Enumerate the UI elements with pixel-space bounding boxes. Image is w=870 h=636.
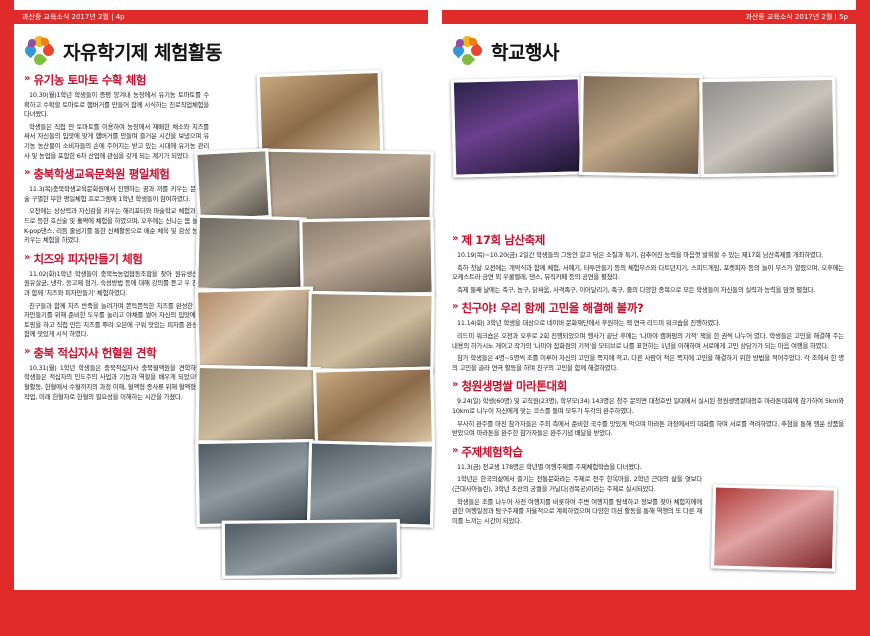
paragraph: 참가 학생들은 4명~5명씩 조를 이루어 자신의 고민을 쪽지에 적고, 다른… (452, 354, 844, 373)
chevron-right-icon: » (24, 166, 28, 179)
header-left-text: 과산중 교육소식 2017년 2월 | 4p (14, 10, 133, 24)
paragraph: 10.30(월)1학년 학생들이 증평 양겨내 농장에서 유기농 토마토를 수확… (24, 91, 209, 120)
article-heading: » 치즈와 피자만들기 체험 (24, 251, 209, 267)
article-body: 10.19(목)~10.20(금) 2일간 학생들의 그동안 갈고 닦은 소질과… (452, 251, 844, 295)
paragraph: 리드미 워크숍은 오전과 오후로 2회 진행되었으며 행사가 끝난 후에는 '나… (452, 332, 844, 351)
article-heading: » 친구야! 우리 함께 고민을 해결해 볼까? (452, 300, 844, 316)
paragraph: 1학년은 한국의삶에서 즐기는 전통문화라는 주제로 전주 한옥마을, 2학년 … (452, 475, 702, 494)
flower-logo-icon (452, 36, 482, 66)
photo-burger-table (254, 148, 433, 227)
article-title: 충북 적십자사 헌혈원 견학 (33, 345, 156, 361)
article-body: 11.3(목)충북학생교육문화원에서 진행하는 꿈과 끼를 키우는 문화·예술 … (24, 185, 209, 246)
article-title: 청원생명쌀 마라톤대회 (461, 378, 566, 394)
article-heading: » 청원생명쌀 마라톤대회 (452, 378, 844, 394)
article-cheese-pizza: » 치즈와 피자만들기 체험 11.02(화)1학년 학생들이 충북녹농업협동조… (24, 251, 209, 340)
paragraph: 11.02(화)1학년 학생들이 충북녹농업협동조합을 찾아 원유생산부터 원유… (24, 270, 209, 299)
photo-cpr-group (222, 519, 400, 579)
chevron-right-icon: » (452, 300, 456, 313)
chevron-right-icon: » (452, 378, 456, 391)
paragraph: 축하 첫날 오전에는 개막식과 함께 체험, 서예기, 타투만들기 등의 체험부… (452, 264, 844, 283)
article-tomato: » 유기농 토마토 수확 체험 10.30(월)1학년 학생들이 증평 양겨내 … (24, 72, 209, 161)
chevron-right-icon: » (452, 232, 456, 245)
article-culture-center: » 충북학생교육문화원 평일체험 11.3(목)충북학생교육문화원에서 진행하는… (24, 166, 209, 246)
article-heading: » 충북학생교육문화원 평일체험 (24, 166, 209, 182)
photo-cpr-training-2 (307, 440, 435, 527)
paragraph: 친구들과 함께 치즈 반죽을 늘려가며 쫀득쫀득한 치즈를 완성한 후 피자만들… (24, 302, 209, 340)
article-heading: » 충북 적십자사 헌혈원 견학 (24, 345, 209, 361)
photo-cheese-making-2 (307, 291, 434, 373)
paragraph: 오전에는 상상력과 자신감을 키우는 해리포터와 마술학교 체험과 함키드로 등… (24, 207, 209, 245)
paragraph: 학생들은 조를 나누어 사전 여행지를 비롯하여 주변 여행지를 탐색하고 정보… (452, 498, 702, 527)
left-red-edge (0, 0, 14, 636)
chevron-right-icon: » (24, 345, 28, 358)
article-theme-field-trip: » 주제체험학습 11.3(금) 전교생 178명은 학년별 여행주제를 주제체… (452, 444, 702, 527)
photo-image (198, 290, 312, 371)
article-heading: » 유기농 토마토 수확 체험 (24, 72, 209, 88)
article-worry-workshop: » 친구야! 우리 함께 고민을 해결해 볼까? 11.14(화) 3학년 학생… (452, 300, 844, 373)
photo-image (702, 80, 834, 174)
photo-festival-classroom (699, 77, 837, 177)
article-body: 10.31(월) 1학년 학생들은 충북적십자사 충북혈액원을 견학하였다. 학… (24, 364, 209, 402)
right-red-edge (856, 0, 870, 636)
photo-gym-activity-1 (194, 148, 272, 222)
article-blood-donation: » 충북 적십자사 헌혈원 견학 10.31(월) 1학년 학생들은 충북적십자… (24, 345, 209, 402)
article-title: 유기농 토마토 수확 체험 (33, 72, 146, 88)
photo-gym-activity-2 (195, 215, 307, 294)
paragraph: 11.3(목)충북학생교육문화원에서 진행하는 꿈과 끼를 키우는 문화·예술 … (24, 185, 209, 204)
paragraph: 9.24(일) 학생(60명) 및 교직원(23명), 학부모(34) 143명… (452, 397, 844, 416)
paragraph: 무사히 완주를 마친 참가자들은 주최 측에서 준비한 국수를 맛있게 먹으며 … (452, 420, 844, 439)
photo-hanbok-trip (711, 484, 837, 571)
photo-image (197, 151, 268, 218)
photo-image (225, 522, 397, 575)
photo-image (316, 370, 432, 445)
left-section-header: 자유학기제 체험활동 (24, 36, 416, 66)
article-body: 11.3(금) 전교생 178명은 학년별 여행주제를 주제체험학습을 다녀왔다… (452, 463, 702, 527)
right-section-header: 학교행사 (452, 36, 844, 66)
article-marathon: » 청원생명쌀 마라톤대회 9.24(일) 학생(60명) 및 교직원(23명)… (452, 378, 844, 438)
photo-image (714, 487, 834, 568)
page-bottom-white-strip (14, 580, 856, 590)
right-section-title: 학교행사 (491, 38, 559, 65)
article-title: 제 17회 남산축제 (461, 232, 545, 248)
article-body: 9.24(일) 학생(60명) 및 교직원(23명), 학부모(34) 143명… (452, 397, 844, 438)
bottom-red-band (0, 590, 870, 636)
photo-festival-stage (451, 76, 584, 177)
flower-logo-icon (24, 36, 54, 66)
paragraph: 축제 둘째 날에는 축구, 농구, 닭싸움, 사격족구, 이어달리기, 족구, … (452, 286, 844, 296)
photo-image (454, 79, 580, 174)
photo-image (582, 76, 700, 174)
photo-festival-sports (579, 73, 703, 177)
paragraph: 10.19(목)~10.20(금) 2일간 학생들의 그동안 갈고 닦은 소질과… (452, 251, 844, 261)
article-heading: » 제 17회 남산축제 (452, 232, 844, 248)
photo-image (257, 152, 430, 225)
header-right-text: 과산중 교육소식 2017년 2월 | 5p (737, 10, 856, 24)
chevron-right-icon: » (24, 251, 28, 264)
paragraph: 학생들은 직접 딴 토마토를 이용하여 농장에서 재배한 채소와 치즈를 싸서 … (24, 123, 209, 161)
photo-cpr-training-1 (195, 439, 314, 527)
paragraph: 10.31(월) 1학년 학생들은 충북적십자사 충북혈액원을 견학하였다. 학… (24, 364, 209, 402)
photo-cooking-class (257, 70, 384, 158)
photo-image (310, 443, 432, 524)
article-namsan-festival: » 제 17회 남산축제 10.19(목)~10.20(금) 2일간 학생들의 … (452, 232, 844, 295)
paragraph: 11.14(화) 3학년 학생을 대상으로 네이버 문화재단에서 후원하는 책 … (452, 319, 844, 329)
header-left-bar: 과산중 교육소식 2017년 2월 | 4p (14, 10, 428, 24)
header-right-bar: 과산중 교육소식 2017년 2월 | 5p (442, 10, 856, 24)
article-heading: » 주제체험학습 (452, 444, 702, 460)
article-title: 주제체험학습 (461, 444, 522, 460)
photo-pizza-making (195, 365, 320, 445)
photo-image (198, 218, 304, 291)
article-body: 10.30(월)1학년 학생들이 증평 양겨내 농장에서 유기농 토마토를 수확… (24, 91, 209, 161)
chevron-right-icon: » (452, 444, 456, 457)
photo-image (198, 442, 311, 524)
photo-image (198, 368, 317, 442)
photo-image (260, 73, 381, 155)
article-body: 11.02(화)1학년 학생들이 충북녹농업협동조합을 찾아 원유생산부터 원유… (24, 270, 209, 340)
paragraph: 11.3(금) 전교생 178명은 학년별 여행주제를 주제체험학습을 다녀왔다… (452, 463, 702, 473)
photo-image (302, 220, 431, 294)
photo-pizza-oven (313, 366, 435, 447)
article-title: 친구야! 우리 함께 고민을 해결해 볼까? (461, 300, 643, 316)
photo-dance-class (299, 217, 434, 297)
photo-image (310, 294, 431, 370)
article-body: 11.14(화) 3학년 학생을 대상으로 네이버 문화재단에서 후원하는 책 … (452, 319, 844, 373)
photo-cheese-making-1 (195, 286, 315, 373)
chevron-right-icon: » (24, 72, 28, 85)
left-section-title: 자유학기제 체험활동 (63, 38, 222, 65)
article-title: 충북학생교육문화원 평일체험 (33, 166, 169, 182)
article-title: 치즈와 피자만들기 체험 (33, 251, 142, 267)
newsletter-page: 과산중 교육소식 2017년 2월 | 4p 과산중 교육소식 2017년 2월… (0, 0, 870, 636)
